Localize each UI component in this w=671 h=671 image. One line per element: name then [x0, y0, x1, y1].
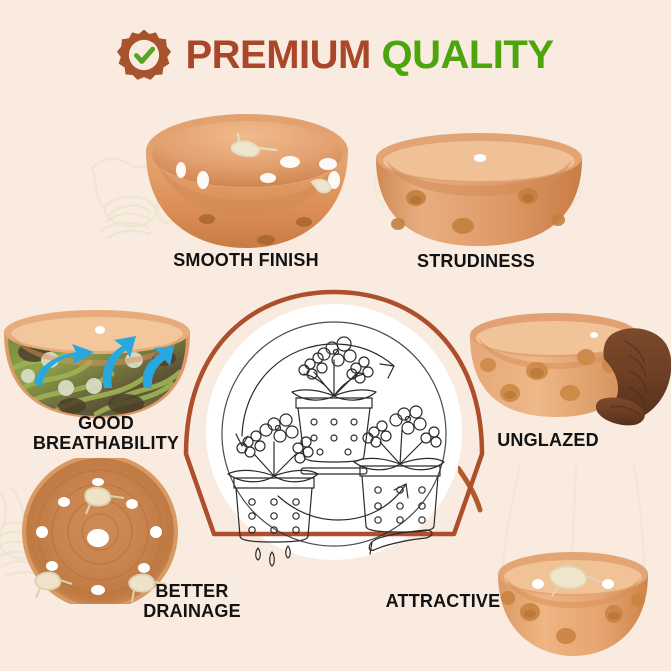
header-banner: PREMIUM QUALITY — [0, 22, 671, 88]
title-premium: PREMIUM — [185, 33, 370, 77]
feature-label-good-breathability: GOOD BREATHABILITY — [6, 413, 206, 453]
photo-attractive — [458, 466, 671, 671]
photo-smooth-finish — [80, 98, 350, 250]
feature-label-sturdiness: STRUDINESS — [378, 251, 574, 271]
feature-label-better-drainage: BETTER DRAINAGE — [92, 581, 292, 621]
page-title: PREMIUM QUALITY — [185, 35, 553, 75]
title-quality: QUALITY — [381, 33, 553, 77]
photo-good-breathability — [0, 300, 200, 418]
feature-label-unglazed: UNGLAZED — [452, 430, 644, 450]
feature-label-smooth-finish: SMOOTH FINISH — [140, 250, 352, 270]
infographic-page: PREMIUM QUALITY — [0, 0, 671, 671]
photo-sturdiness — [368, 128, 590, 248]
feature-label-attractive: ATTRACTIVE — [345, 591, 541, 611]
verified-rosette-check-icon — [117, 28, 171, 82]
center-emblem — [182, 286, 486, 582]
